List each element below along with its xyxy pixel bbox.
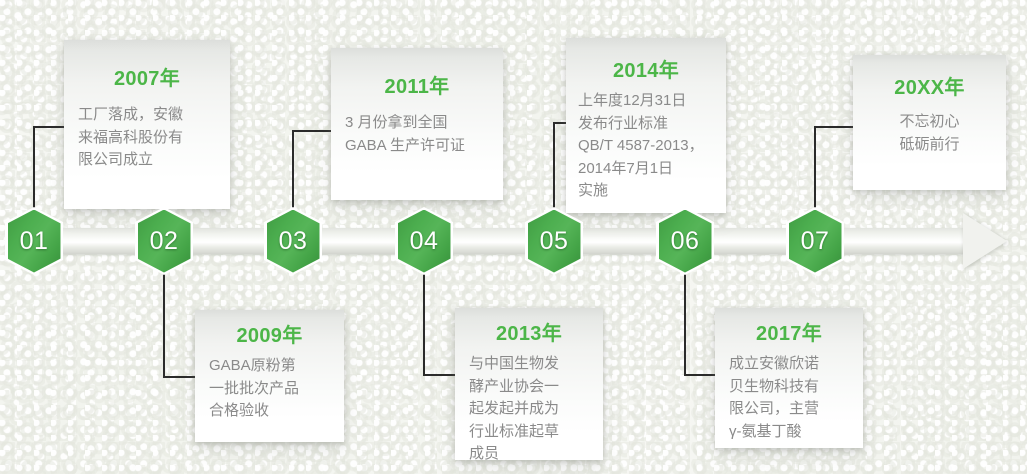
arrow-right-icon	[963, 213, 1007, 269]
timeline-marker-05[interactable]: 05	[525, 207, 583, 275]
marker-number: 06	[671, 228, 700, 254]
milestone-description: GABA原粉第 一批批次产品 合格验收	[209, 355, 330, 423]
marker-number: 01	[20, 228, 49, 254]
milestone-year: 20XX年	[867, 77, 992, 99]
hexagon-icon: 07	[789, 210, 842, 273]
timeline-marker-06[interactable]: 06	[656, 207, 714, 275]
timeline-marker-03[interactable]: 03	[264, 207, 322, 275]
milestone-description: 不忘初心 砥砺前行	[867, 111, 992, 156]
milestone-card-2017[interactable]: 2017年 成立安徽欣诺 贝生物科技有 限公司，主营 γ-氨基丁酸	[715, 308, 863, 448]
marker-number: 02	[150, 228, 179, 254]
milestone-year: 2013年	[469, 323, 589, 345]
milestone-description: 成立安徽欣诺 贝生物科技有 限公司，主营 γ-氨基丁酸	[729, 353, 849, 443]
milestone-year: 2007年	[78, 68, 216, 90]
milestone-card-2009[interactable]: 2009年 GABA原粉第 一批批次产品 合格验收	[195, 310, 344, 442]
hexagon-icon: 03	[267, 210, 320, 273]
hexagon-icon: 06	[659, 210, 712, 273]
milestone-description: 工厂落成，安徽 来福高科股份有 限公司成立	[78, 104, 216, 172]
hexagon-icon: 04	[398, 210, 451, 273]
marker-number: 04	[410, 228, 439, 254]
milestone-card-20XX[interactable]: 20XX年 不忘初心 砥砺前行	[853, 55, 1006, 190]
milestone-year: 2014年	[578, 60, 714, 82]
milestone-card-2014[interactable]: 2014年 上年度12月31日 发布行业标准 QB/T 4587-2013， 2…	[566, 38, 726, 213]
milestone-description: 与中国生物发 酵产业协会一 起发起并成为 行业标准起草 成员	[469, 353, 589, 466]
marker-number: 05	[540, 228, 569, 254]
milestone-card-2007[interactable]: 2007年 工厂落成，安徽 来福高科股份有 限公司成立	[64, 40, 230, 209]
milestone-description: 3 月份拿到全国 GABA 生产许可证	[345, 112, 489, 157]
milestone-year: 2011年	[345, 76, 489, 98]
milestone-year: 2017年	[729, 323, 849, 345]
milestone-card-2013[interactable]: 2013年 与中国生物发 酵产业协会一 起发起并成为 行业标准起草 成员	[455, 308, 603, 460]
hexagon-icon: 01	[8, 210, 61, 273]
timeline-marker-01[interactable]: 01	[5, 207, 63, 275]
milestone-description: 上年度12月31日 发布行业标准 QB/T 4587-2013， 2014年7月…	[578, 90, 714, 203]
marker-number: 07	[801, 228, 830, 254]
marker-number: 03	[279, 228, 308, 254]
timeline-marker-04[interactable]: 04	[395, 207, 453, 275]
timeline-marker-02[interactable]: 02	[135, 207, 193, 275]
milestone-year: 2009年	[209, 325, 330, 347]
hexagon-icon: 02	[138, 210, 191, 273]
timeline-marker-07[interactable]: 07	[786, 207, 844, 275]
hexagon-icon: 05	[528, 210, 581, 273]
timeline-infographic: 2007年 工厂落成，安徽 来福高科股份有 限公司成立 2009年 GABA原粉…	[0, 0, 1027, 474]
milestone-card-2011[interactable]: 2011年 3 月份拿到全国 GABA 生产许可证	[331, 48, 503, 200]
